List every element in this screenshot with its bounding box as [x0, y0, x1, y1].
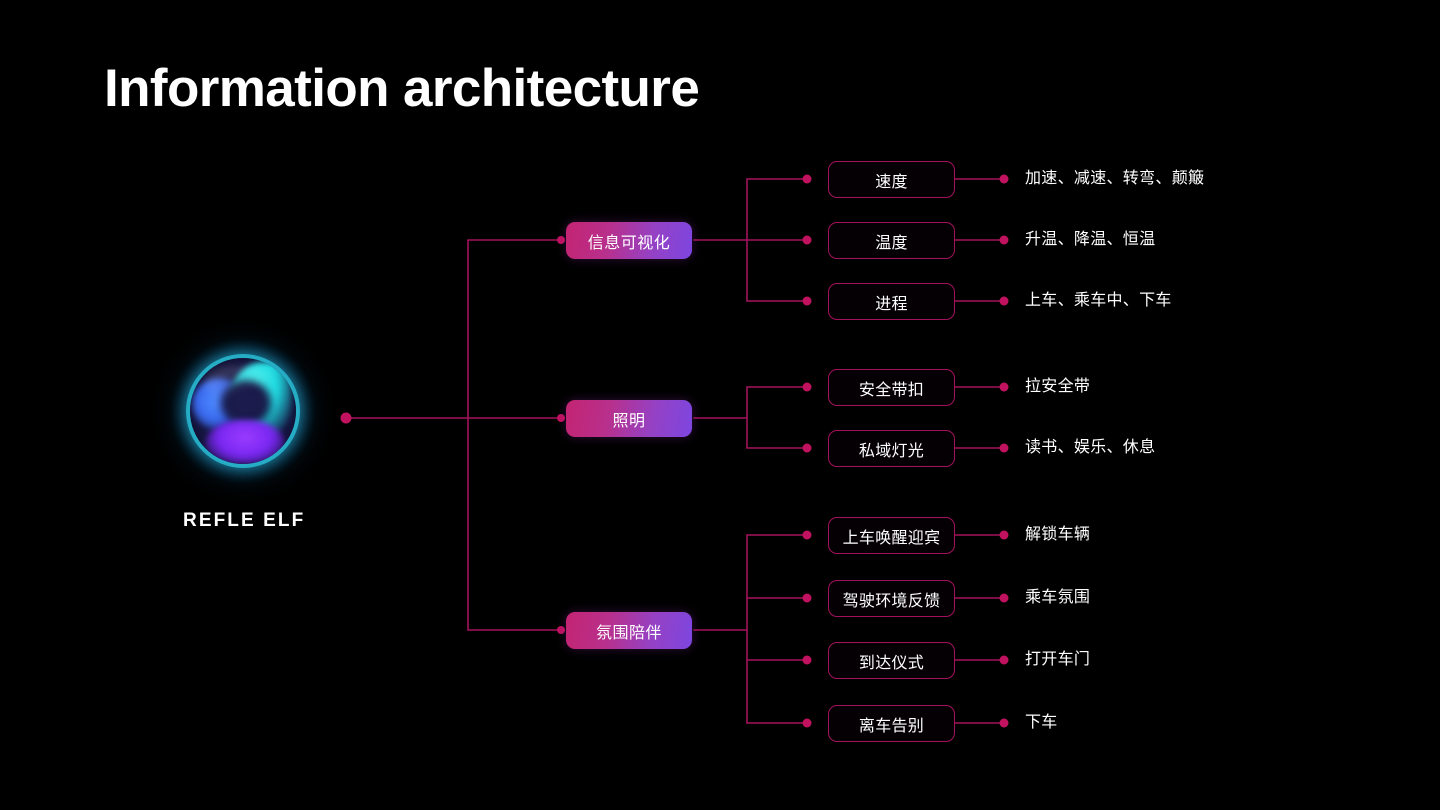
feature-box-speed[interactable]: 速度	[828, 161, 955, 198]
branch-node-label: 氛围陪伴	[596, 619, 662, 643]
branch-1-child-2-dot	[803, 236, 812, 245]
branch-2-child-1-dot	[803, 383, 812, 392]
feature-box-label: 进程	[875, 290, 908, 314]
branch-1-child-3-dot	[803, 297, 812, 306]
feature-box-label: 离车告别	[859, 712, 924, 736]
feature-box-label: 温度	[875, 229, 908, 253]
feature-box-process[interactable]: 进程	[828, 283, 955, 320]
branch-3-dot	[557, 626, 565, 634]
leaf-detail-departure-farewell: 下车	[1025, 714, 1058, 732]
feature-box-label: 速度	[875, 168, 908, 192]
branch-3-leaf-2-dot	[1000, 594, 1009, 603]
branch-3-child-4-dot	[803, 719, 812, 728]
branch-node-label: 照明	[612, 407, 645, 431]
orb-body	[190, 358, 296, 464]
feature-box-seatbelt-buckle[interactable]: 安全带扣	[828, 369, 955, 406]
feature-box-temperature[interactable]: 温度	[828, 222, 955, 259]
branch-2-dot	[557, 414, 565, 422]
root-node[interactable]: REFLE ELF	[183, 352, 303, 532]
feature-box-driving-feedback[interactable]: 驾驶环境反馈	[828, 580, 955, 617]
leaf-detail-process: 上车、乘车中、下车	[1025, 292, 1172, 310]
branch-node-info-visualization[interactable]: 信息可视化	[566, 222, 692, 259]
root-dot	[341, 413, 352, 424]
branch-3-leaf-3-dot	[1000, 656, 1009, 665]
feature-box-label: 驾驶环境反馈	[843, 587, 941, 611]
branch-3-child-2-dot	[803, 594, 812, 603]
branch-node-label: 信息可视化	[588, 229, 671, 253]
leaf-detail-private-light: 读书、娱乐、休息	[1025, 439, 1155, 457]
branch-1-leaf-3-dot	[1000, 297, 1009, 306]
feature-box-boarding-welcome[interactable]: 上车唤醒迎宾	[828, 517, 955, 554]
branch-2-child-2-dot	[803, 444, 812, 453]
branch-3-leaf-1-dot	[1000, 531, 1009, 540]
branch-node-ambient-companion[interactable]: 氛围陪伴	[566, 612, 692, 649]
page-title: Information architecture	[104, 57, 699, 121]
leaf-detail-boarding-welcome: 解锁车辆	[1025, 526, 1090, 544]
slide-canvas: Information architecture	[0, 0, 1440, 810]
feature-box-arrival-ceremony[interactable]: 到达仪式	[828, 642, 955, 679]
branch-node-lighting[interactable]: 照明	[566, 400, 692, 437]
orb-purple-blob	[206, 420, 284, 464]
branch-1-dot	[557, 236, 565, 244]
root-label: REFLE ELF	[183, 510, 303, 532]
leaf-detail-speed: 加速、减速、转弯、颠簸	[1025, 170, 1204, 188]
feature-box-private-light[interactable]: 私域灯光	[828, 430, 955, 467]
branch-2-leaf-2-dot	[1000, 444, 1009, 453]
branch-2-leaf-1-dot	[1000, 383, 1009, 392]
branch-1-leaf-2-dot	[1000, 236, 1009, 245]
branch-3-child-3-dot	[803, 656, 812, 665]
leaf-detail-seatbelt-buckle: 拉安全带	[1025, 378, 1090, 396]
feature-box-label: 私域灯光	[859, 437, 924, 461]
orb-sheen-highlight	[204, 366, 276, 400]
leaf-detail-arrival-ceremony: 打开车门	[1025, 651, 1090, 669]
refle-elf-orb-icon	[184, 352, 302, 470]
branch-3-child-1-dot	[803, 531, 812, 540]
leaf-detail-driving-feedback: 乘车氛围	[1025, 589, 1090, 607]
branch-1-leaf-1-dot	[1000, 175, 1009, 184]
branch-3-leaf-4-dot	[1000, 719, 1009, 728]
branch-1-child-1-dot	[803, 175, 812, 184]
leaf-detail-temperature: 升温、降温、恒温	[1025, 231, 1155, 249]
feature-box-label: 上车唤醒迎宾	[843, 524, 941, 548]
feature-box-departure-farewell[interactable]: 离车告别	[828, 705, 955, 742]
feature-box-label: 到达仪式	[859, 649, 924, 673]
feature-box-label: 安全带扣	[859, 376, 924, 400]
